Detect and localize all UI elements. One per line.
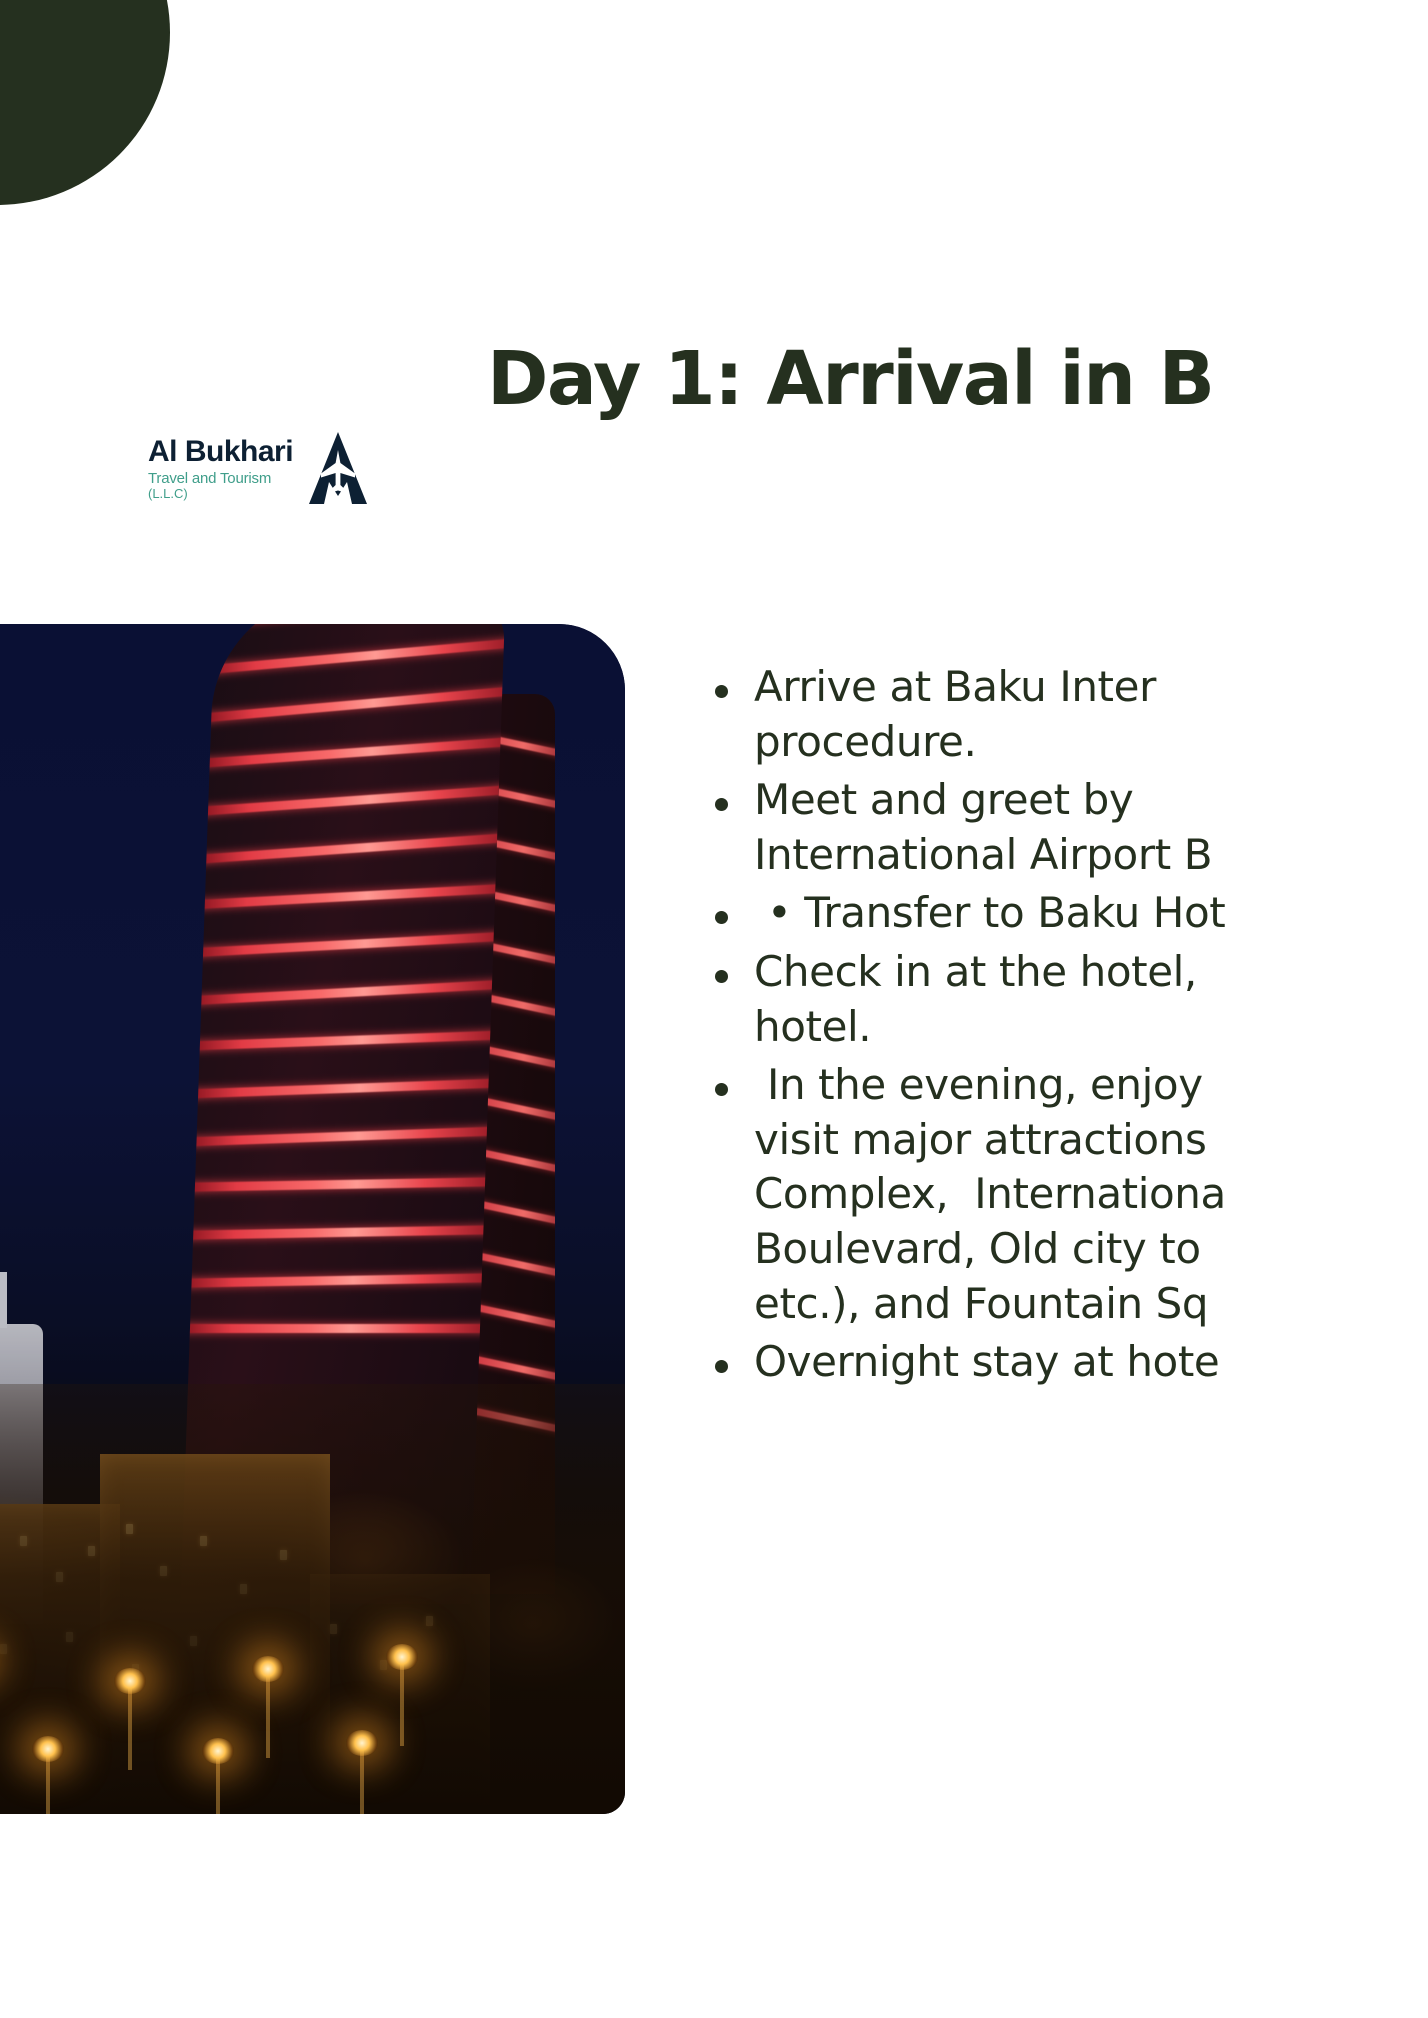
list-item: Arrive at Baku Inter procedure. bbox=[715, 660, 1428, 769]
street-lamp bbox=[128, 1684, 132, 1770]
brand-logo: Al Bukhari Travel and Tourism (L.L.C) bbox=[148, 430, 369, 506]
bullet-dot-icon bbox=[715, 798, 728, 811]
bullet-text: Check in at the hotel, hotel. bbox=[754, 945, 1428, 1054]
decorative-circle-shape bbox=[0, 0, 170, 205]
presentation-slide: Al Bukhari Travel and Tourism (L.L.C) Da… bbox=[0, 0, 1428, 2018]
logo-entity-type: (L.L.C) bbox=[148, 487, 293, 500]
airplane-triangle-icon bbox=[307, 430, 369, 506]
list-item: Meet and greet by International Airport … bbox=[715, 773, 1428, 882]
bullet-dot-icon bbox=[715, 1360, 728, 1373]
logo-tagline: Travel and Tourism bbox=[148, 471, 293, 486]
street-lamp bbox=[360, 1746, 364, 1814]
street-lamp bbox=[216, 1754, 220, 1814]
itinerary-bullet-list: Arrive at Baku Inter procedure. Meet and… bbox=[715, 660, 1428, 1394]
bullet-text: In the evening, enjoy visit major attrac… bbox=[754, 1058, 1428, 1331]
list-item: • Transfer to Baku Hot bbox=[715, 886, 1428, 941]
foreground-trees bbox=[0, 1384, 625, 1814]
baku-night-photo bbox=[0, 624, 625, 1814]
bullet-dot-icon bbox=[715, 1083, 728, 1096]
bullet-dot-icon bbox=[715, 685, 728, 698]
street-lamp bbox=[400, 1660, 404, 1746]
bullet-text: Meet and greet by International Airport … bbox=[754, 773, 1428, 882]
bullet-dot-icon bbox=[715, 970, 728, 983]
logo-company-name: Al Bukhari bbox=[148, 437, 293, 467]
logo-wordmark: Al Bukhari Travel and Tourism (L.L.C) bbox=[148, 437, 293, 500]
street-lamp bbox=[266, 1672, 270, 1758]
bullet-text: Overnight stay at hote bbox=[754, 1335, 1428, 1390]
street-lamp bbox=[46, 1752, 50, 1814]
bullet-dot-icon bbox=[715, 911, 728, 924]
bullet-text: Arrive at Baku Inter procedure. bbox=[754, 660, 1428, 769]
slide-title: Day 1: Arrival in B bbox=[487, 336, 1428, 422]
list-item: Check in at the hotel, hotel. bbox=[715, 945, 1428, 1054]
bullet-text: • Transfer to Baku Hot bbox=[754, 886, 1428, 941]
list-item: Overnight stay at hote bbox=[715, 1335, 1428, 1390]
list-item: In the evening, enjoy visit major attrac… bbox=[715, 1058, 1428, 1331]
